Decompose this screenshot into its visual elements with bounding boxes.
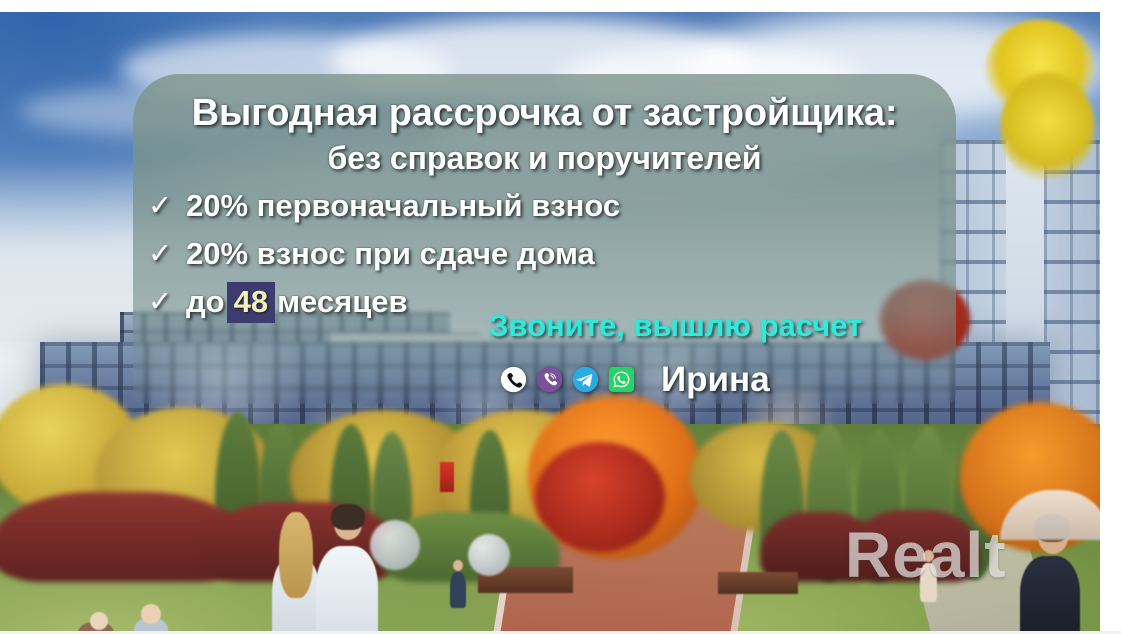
ad-content: Выгодная рассрочка от застройщика: без с… (0, 0, 1121, 634)
telegram-icon[interactable] (572, 366, 599, 393)
viber-icon[interactable] (536, 366, 563, 393)
list-item-label: 20% первоначальный взнос (186, 188, 620, 224)
list-item-label-suffix: месяцев (277, 284, 407, 320)
whatsapp-icon[interactable] (608, 366, 635, 393)
real-estate-ad-banner: Выгодная рассрочка от застройщика: без с… (0, 0, 1121, 634)
benefits-list: ✓ 20% первоначальный взнос ✓ 20% взнос п… (148, 182, 620, 326)
phone-icon[interactable] (500, 366, 527, 393)
term-months-highlight: 48 (227, 282, 275, 323)
contact-name: Ирина (661, 362, 770, 397)
list-item-label: 20% взнос при сдаче дома (186, 236, 595, 272)
check-icon: ✓ (148, 288, 186, 317)
top-border (0, 0, 1121, 12)
list-item: ✓ 20% первоначальный взнос (148, 182, 620, 230)
check-icon: ✓ (148, 240, 186, 269)
list-item: ✓ 20% взнос при сдаче дома (148, 230, 620, 278)
realt-watermark: Realt (845, 518, 1007, 592)
call-to-action-text: Звоните, вышлю расчет (489, 308, 862, 344)
right-border (1100, 0, 1121, 634)
list-item-label-prefix: до (186, 284, 225, 320)
check-icon: ✓ (148, 192, 186, 221)
contact-channels: Ирина (500, 362, 770, 397)
subheadline: без справок и поручителей (133, 140, 956, 177)
headline: Выгодная рассрочка от застройщика: (133, 92, 956, 135)
